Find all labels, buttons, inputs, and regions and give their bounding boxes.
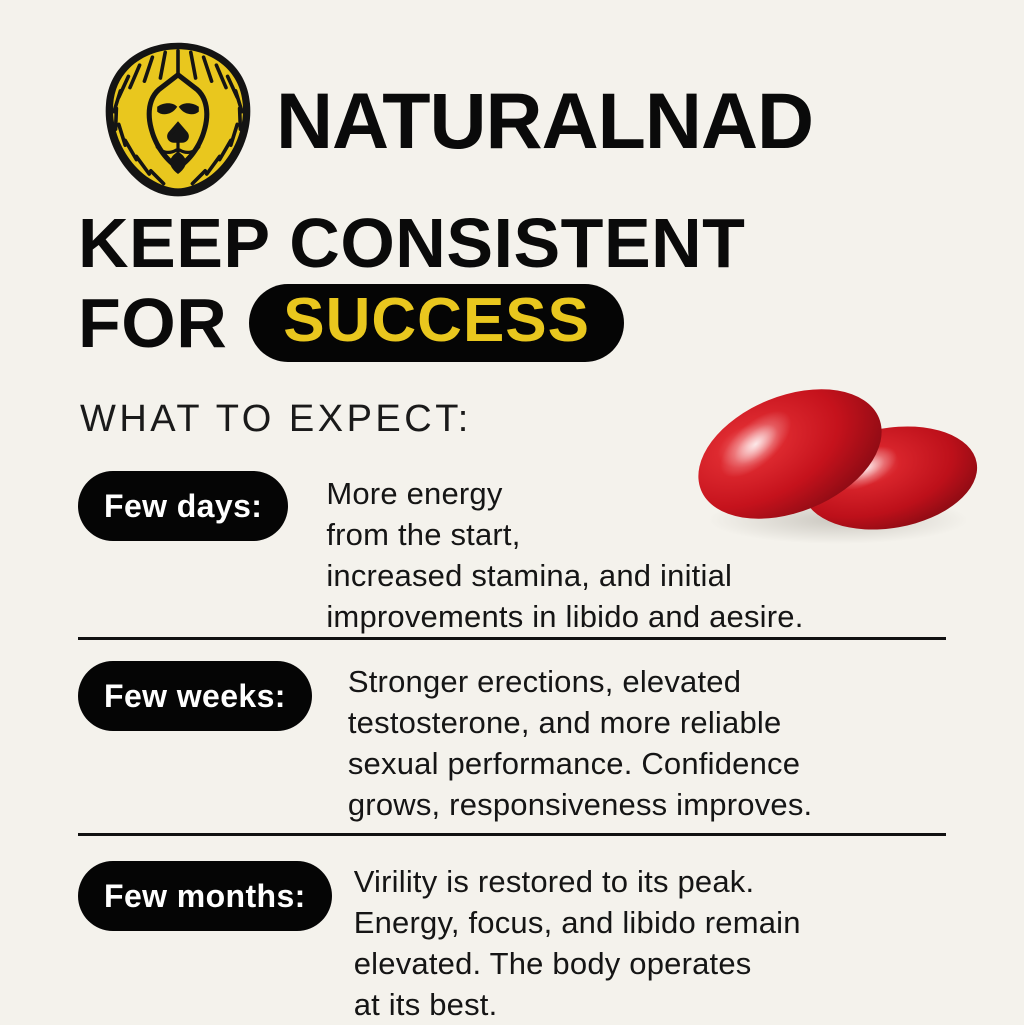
section-divider — [78, 637, 946, 640]
section-row: Few months: Virility is restored to its … — [78, 857, 958, 1025]
section-divider — [78, 833, 946, 836]
headline-for-word: FOR — [78, 288, 227, 358]
timeframe-badge-label: Few weeks: — [104, 678, 286, 715]
timeframe-badge-few-weeks: Few weeks: — [78, 661, 312, 731]
success-highlight-pill: SUCCESS — [249, 284, 624, 362]
section-row: Few weeks: Stronger erections, elevated … — [78, 657, 958, 825]
brand-header: NATURALNAD — [98, 38, 813, 198]
expectation-section-few-weeks: Few weeks: Stronger erections, elevated … — [78, 657, 958, 825]
expectation-text-few-days: More energy from the start, increased st… — [326, 473, 803, 637]
timeframe-badge-label: Few days: — [104, 488, 262, 525]
expectation-section-few-months: Few months: Virility is restored to its … — [78, 857, 958, 1025]
lion-head-icon — [98, 38, 258, 198]
expectation-text-few-weeks: Stronger erections, elevated testosteron… — [348, 661, 813, 825]
headline-line-1: KEEP CONSISTENT — [78, 206, 958, 280]
timeframe-badge-few-days: Few days: — [78, 471, 288, 541]
timeframe-badge-label: Few months: — [104, 878, 306, 915]
expectation-section-few-days: Few days: More energy from the start, in… — [78, 467, 958, 637]
headline-block: KEEP CONSISTENT FOR SUCCESS — [78, 206, 958, 362]
brand-name: NATURALNAD — [276, 81, 813, 160]
section-row: Few days: More energy from the start, in… — [78, 467, 958, 637]
infographic-poster: NATURALNAD KEEP CONSISTENT FOR SUCCESS W… — [0, 0, 1024, 1024]
timeframe-badge-few-months: Few months: — [78, 861, 332, 931]
success-highlight-text: SUCCESS — [283, 286, 590, 355]
what-to-expect-heading: WHAT TO EXPECT: — [80, 398, 472, 441]
headline-line-2: FOR SUCCESS — [78, 284, 958, 362]
expectation-text-few-months: Virility is restored to its peak. Energy… — [354, 861, 801, 1025]
